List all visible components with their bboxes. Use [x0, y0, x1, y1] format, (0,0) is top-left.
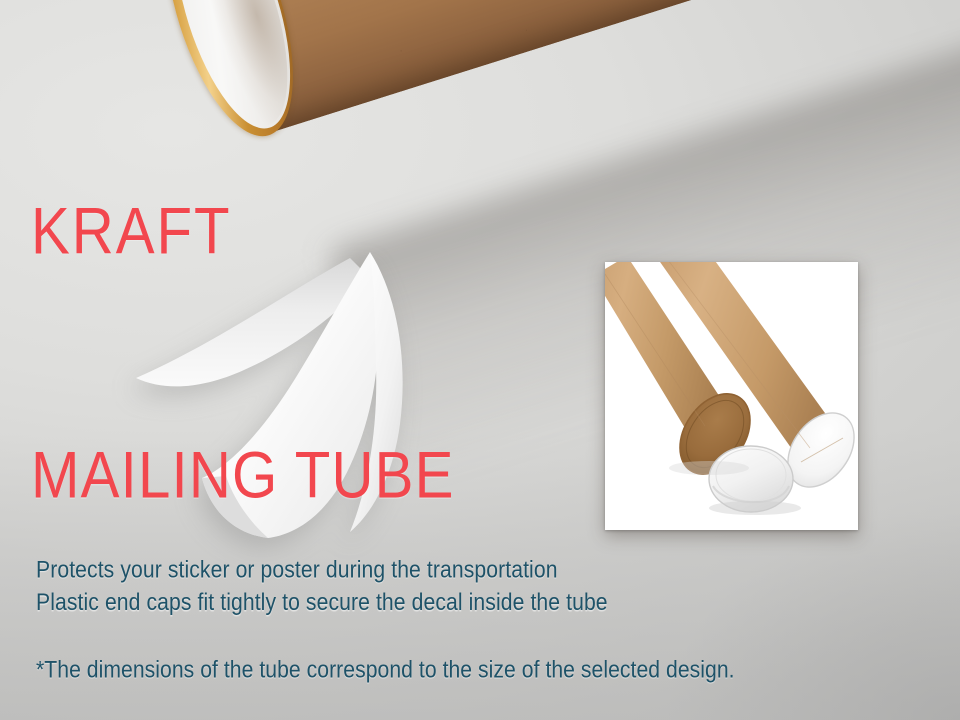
poster-canvas: KRAFT MAILING TUBE Protects your sticker… — [0, 0, 960, 720]
feature-line-1: Protects your sticker or poster during t… — [36, 553, 608, 586]
feature-line-2: Plastic end caps fit tightly to secure t… — [36, 586, 608, 619]
inset-product-photo — [605, 262, 858, 530]
title-line-2: MAILING TUBE — [31, 435, 455, 516]
footnote: *The dimensions of the tube correspond t… — [36, 653, 735, 685]
title-line-1: KRAFT — [31, 191, 455, 272]
footnote-line: *The dimensions of the tube correspond t… — [36, 653, 735, 685]
feature-list: Protects your sticker or poster during t… — [36, 553, 608, 619]
